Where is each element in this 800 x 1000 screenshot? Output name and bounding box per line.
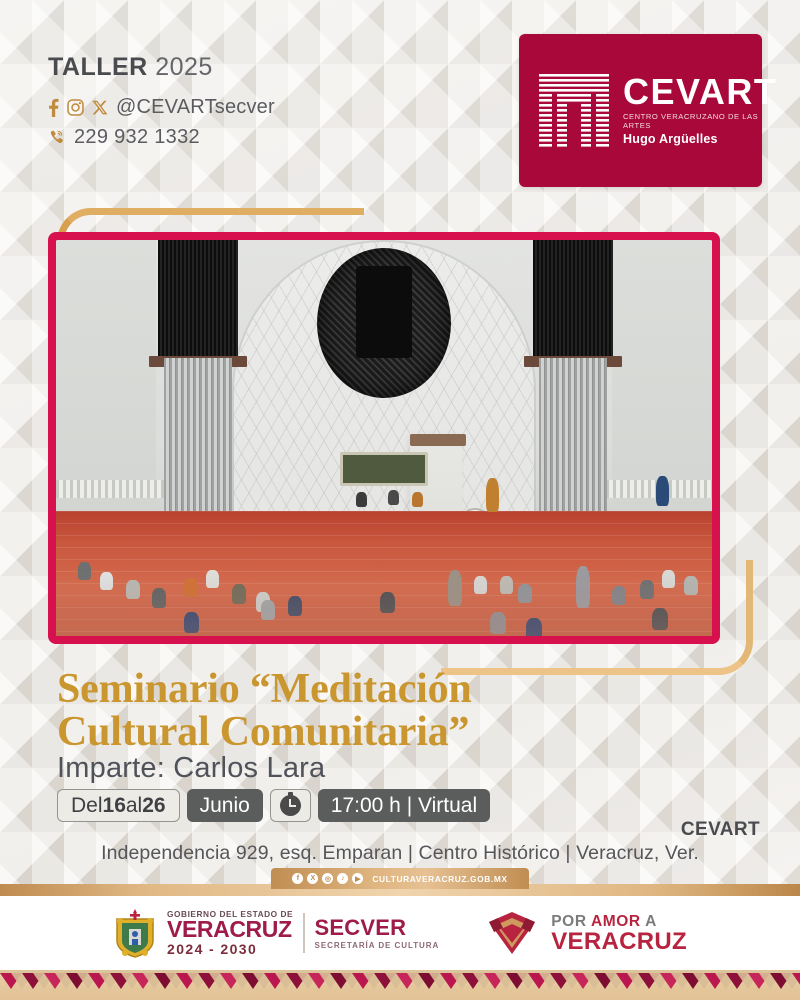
taller-year: 2025 xyxy=(155,53,213,81)
clock-icon xyxy=(280,795,301,816)
taller-label: TALLER xyxy=(48,53,148,81)
secver-name: SECVER xyxy=(315,917,440,939)
por-amor-a-veracruz-group: POR AMOR A VERACRUZ xyxy=(483,908,687,958)
bottom-decorative-border xyxy=(0,970,800,1000)
header-left-block: TALLER 2025 @CEVARTsecver 229 932 1332 xyxy=(48,55,275,149)
secver-logo: SECVER SECRETARÍA DE CULTURA xyxy=(315,917,440,950)
amor-line2: VERACRUZ xyxy=(551,931,687,954)
phone-icon xyxy=(48,129,65,146)
venue-address: Independencia 929, esq. Emparan | Centro… xyxy=(0,842,800,865)
gobierno-line2: VERACRUZ xyxy=(167,919,293,941)
social-handle-line: @CEVARTsecver xyxy=(48,96,275,119)
cevart-logo-card: CEVART CENTRO VERACRUZANO DE LAS ARTES H… xyxy=(519,34,762,187)
badge-date-end: 26 xyxy=(142,794,165,818)
page-title: TALLER 2025 xyxy=(48,55,275,80)
facebook-icon[interactable]: f xyxy=(292,873,303,884)
phone-line: 229 932 1332 xyxy=(48,126,275,149)
youtube-icon[interactable]: ▶ xyxy=(352,873,363,884)
cevart-arch-icon xyxy=(539,74,609,148)
badge-date-start: 16 xyxy=(103,794,126,818)
cevart-logo-person: Hugo Argüelles xyxy=(623,132,777,146)
badge-time-modality: 17:00 h | Virtual xyxy=(318,789,490,822)
event-instructor: Imparte: Carlos Lara xyxy=(57,752,325,785)
event-title-line1: Seminario “Meditación xyxy=(57,668,677,711)
facebook-icon[interactable] xyxy=(48,98,59,117)
gobierno-logo-group: GOBIERNO DEL ESTADO DE VERACRUZ 2024 - 2… xyxy=(113,907,439,959)
amor-text: POR AMOR A VERACRUZ xyxy=(551,913,687,954)
chandelier-icon xyxy=(317,248,451,398)
cevart-logo-subtitle: CENTRO VERACRUZANO DE LAS ARTES xyxy=(623,112,777,130)
event-title: Seminario “Meditación Cultural Comunitar… xyxy=(57,668,677,754)
secver-subtitle: SECRETARÍA DE CULTURA xyxy=(315,941,440,950)
instagram-icon[interactable] xyxy=(67,99,84,116)
x-twitter-icon[interactable]: X xyxy=(307,873,318,884)
social-handle-text: @CEVARTsecver xyxy=(116,96,275,119)
poster-canvas: TALLER 2025 @CEVARTsecver 229 932 1332 xyxy=(0,0,800,1000)
x-twitter-icon[interactable] xyxy=(92,100,108,116)
event-title-line2: Cultural Comunitaria” xyxy=(57,711,677,754)
website-url[interactable]: CULTURAVERACRUZ.GOB.MX xyxy=(372,874,507,884)
mosque-interior-photo xyxy=(56,240,712,636)
event-photo-frame xyxy=(48,232,720,644)
badge-clock xyxy=(270,789,311,822)
phone-number: 229 932 1332 xyxy=(74,126,200,149)
event-badges-row: Del 16 al 26 Junio 17:00 h | Virtual xyxy=(57,789,490,822)
badge-dates-mid: al xyxy=(126,794,142,818)
gobierno-text: GOBIERNO DEL ESTADO DE VERACRUZ 2024 - 2… xyxy=(167,909,293,957)
cevart-logo-name: CEVART xyxy=(623,75,777,109)
tiktok-icon[interactable]: ♪ xyxy=(337,873,348,884)
footer-divider xyxy=(303,913,304,953)
badge-dates: Del 16 al 26 xyxy=(57,789,180,822)
gobierno-line3: 2024 - 2030 xyxy=(167,941,293,957)
badge-dates-prefix: Del xyxy=(71,794,103,818)
instagram-icon[interactable]: ◎ xyxy=(322,873,333,884)
venue-name: CEVART xyxy=(681,819,760,841)
footer-logos: GOBIERNO DEL ESTADO DE VERACRUZ 2024 - 2… xyxy=(0,896,800,970)
veracruz-coat-of-arms-icon xyxy=(113,907,157,959)
heart-chevron-icon xyxy=(483,908,541,958)
cevart-logo-text: CEVART CENTRO VERACRUZANO DE LAS ARTES H… xyxy=(623,75,777,146)
badge-month: Junio xyxy=(187,789,263,822)
social-bar-tab: f X ◎ ♪ ▶ CULTURAVERACRUZ.GOB.MX xyxy=(271,868,529,889)
